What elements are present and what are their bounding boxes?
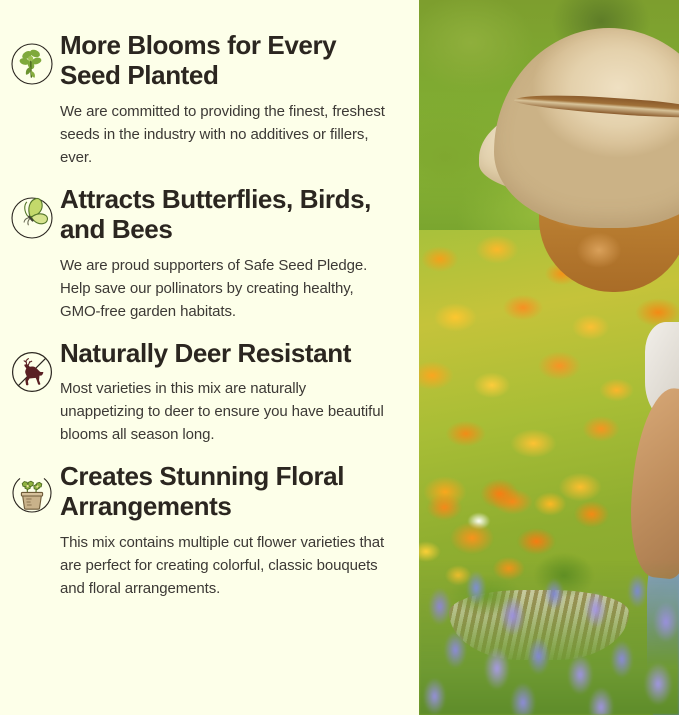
photo-purple-foreground-flowers [419, 560, 679, 715]
feature-text-block: Naturally Deer Resistant Most varieties … [60, 338, 397, 446]
no-deer-icon [8, 348, 56, 396]
feature-description: Most varieties in this mix are naturally… [60, 377, 389, 446]
feature-description: This mix contains multiple cut flower va… [60, 531, 389, 600]
feature-item-more-blooms: More Blooms for Every Seed Planted We ar… [4, 30, 397, 169]
feature-title: Naturally Deer Resistant [60, 338, 389, 368]
feature-icon-container [4, 30, 60, 88]
potted-plant-icon [8, 471, 56, 519]
feature-description: We are committed to providing the finest… [60, 100, 389, 169]
feature-item-deer-resistant: Naturally Deer Resistant Most varieties … [4, 338, 397, 446]
feature-icon-container [4, 338, 60, 396]
butterfly-icon [8, 194, 56, 242]
feature-title: Attracts Butterflies, Birds, and Bees [60, 184, 389, 245]
feature-icon-container [4, 184, 60, 242]
feature-item-attracts-pollinators: Attracts Butterflies, Birds, and Bees We… [4, 184, 397, 323]
feature-description: We are proud supporters of Safe Seed Ple… [60, 254, 389, 323]
woman-in-straw-hat-holding-poppy-bouquet-photo [419, 0, 679, 715]
feature-title: More Blooms for Every Seed Planted [60, 30, 389, 91]
features-list: More Blooms for Every Seed Planted We ar… [0, 0, 419, 715]
feature-icon-container [4, 461, 60, 519]
product-feature-panel: More Blooms for Every Seed Planted We ar… [0, 0, 679, 715]
feature-text-block: More Blooms for Every Seed Planted We ar… [60, 30, 397, 169]
flower-bloom-icon [8, 40, 56, 88]
feature-title: Creates Stunning Floral Arrangements [60, 461, 389, 522]
feature-text-block: Creates Stunning Floral Arrangements Thi… [60, 461, 397, 600]
feature-item-floral-arrangements: Creates Stunning Floral Arrangements Thi… [4, 461, 397, 600]
feature-text-block: Attracts Butterflies, Birds, and Bees We… [60, 184, 397, 323]
